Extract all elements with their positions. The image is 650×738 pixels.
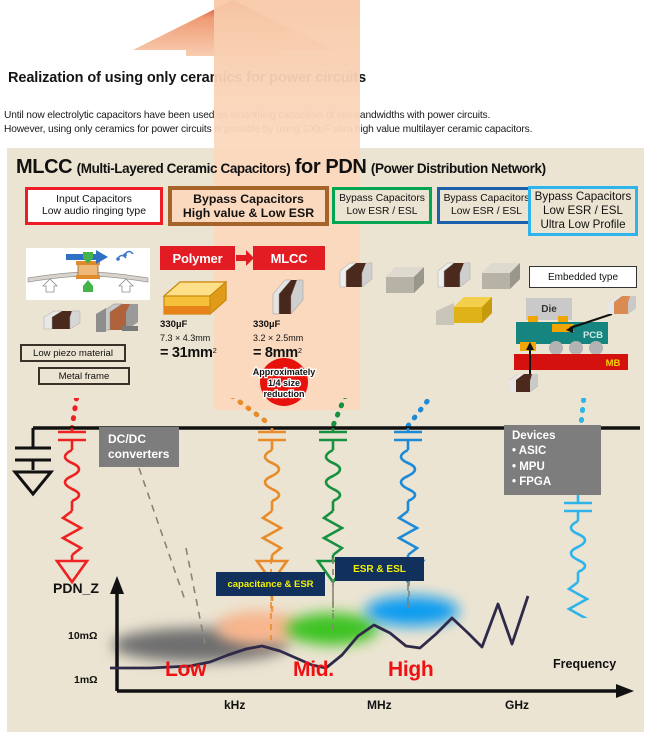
mlcc-capacitance: 330µF	[253, 319, 280, 330]
mlcc-area-exp: 2	[298, 346, 302, 355]
burst-line-1: Approximately	[253, 367, 316, 377]
mlcc-chip-icon-left	[38, 305, 84, 335]
y-tick-1mohm: 1mΩ	[74, 674, 98, 686]
dcdc-line-2: converters	[108, 447, 179, 462]
mb-label: MB	[606, 358, 621, 369]
devices-title: Devices	[512, 429, 601, 444]
band-label-high: High	[388, 658, 433, 682]
devices-box: Devices • ASIC • MPU • FPGA	[504, 425, 601, 495]
category-box-bypass-high-value[interactable]: Bypass Capacitors High value & Low ESR	[168, 186, 329, 226]
band-label-mid: Mid.	[293, 658, 334, 682]
polymer-area-exp: 2	[213, 346, 217, 355]
region-low-esl-mlcc	[365, 596, 459, 626]
dcdc-converters-box: DC/DC converters	[99, 427, 179, 467]
dcdc-line-1: DC/DC	[108, 432, 179, 447]
panel-title-mlcc-expansion: (Multi-Layered Ceramic Capacitors)	[77, 161, 291, 176]
x-axis-title: Frequency	[553, 657, 616, 671]
pcb-vibration-illustration	[26, 248, 150, 300]
polymer-tag: Polymer	[160, 246, 235, 270]
panel-title: MLCC (Multi-Layered Ceramic Capacitors) …	[16, 156, 638, 179]
y-tick-10mohm: 10mΩ	[68, 630, 97, 642]
category-box-bypass-blue[interactable]: Bypass Capacitors Low ESR / ESL	[437, 187, 536, 224]
esr-esl-label: ESR & ESL	[335, 557, 424, 581]
devices-item-mpu: • MPU	[512, 460, 601, 475]
x-tick-mhz: MHz	[367, 698, 392, 712]
panel-title-pdn: for PDN	[295, 156, 367, 178]
panel-title-pdn-expansion: (Power Distribution Network)	[371, 161, 546, 176]
embedded-type-illustration: Die PCB MB	[500, 288, 645, 398]
chip-capacitor-icons-group	[336, 255, 526, 347]
right-arrow-icon	[236, 250, 254, 266]
y-axis-arrow	[110, 576, 124, 594]
low-piezo-material-label: Low piezo material	[20, 344, 126, 362]
highlight-column-top	[214, 0, 360, 148]
category-line-1: Bypass Capacitors	[339, 193, 425, 205]
devices-item-fpga: • FPGA	[512, 475, 601, 490]
devices-item-asic: • ASIC	[512, 444, 601, 459]
category-box-bypass-ultra-low-profile[interactable]: Bypass Capacitors Low ESR / ESL Ultra Lo…	[528, 186, 638, 236]
category-line-1: Bypass Capacitors	[193, 192, 304, 207]
category-line-1: Input Capacitors	[56, 194, 132, 206]
capacitance-esr-label: capacitance & ESR	[216, 572, 325, 596]
pdn-impedance-chart	[0, 548, 650, 738]
polymer-dimensions: 7.3 × 4.3mm	[160, 332, 217, 344]
x-tick-khz: kHz	[224, 698, 245, 712]
category-line-2: Low ESR / ESL	[347, 206, 418, 218]
polymer-spec: 330µF 7.3 × 4.3mm = 31mm2	[160, 318, 217, 364]
category-line-3: Ultra Low Profile	[540, 218, 625, 232]
category-line-2: Low audio ringing type	[42, 206, 146, 218]
pcb-label: PCB	[583, 330, 603, 341]
burst-line-2: 1/4 size	[268, 378, 300, 388]
y-axis-title: PDN_Z	[53, 580, 99, 596]
band-label-low: Low	[165, 658, 206, 682]
category-box-bypass-green[interactable]: Bypass Capacitors Low ESR / ESL	[332, 187, 432, 224]
x-tick-ghz: GHz	[505, 698, 529, 712]
x-axis-arrow	[616, 684, 634, 698]
mlcc-tag: MLCC	[253, 246, 325, 270]
mlcc-dimensions: 3.2 × 2.5mm	[253, 332, 303, 344]
category-line-2: Low ESR / ESL	[543, 204, 623, 218]
polymer-capacitance: 330µF	[160, 319, 187, 330]
category-line-1: Bypass Capacitors	[444, 193, 530, 205]
metal-frame-label: Metal frame	[38, 367, 130, 385]
region-low-esr-mlcc	[286, 613, 378, 645]
category-box-input-capacitors[interactable]: Input Capacitors Low audio ringing type	[25, 187, 163, 225]
embedded-type-label: Embedded type	[529, 266, 637, 288]
metal-frame-capacitor-icon	[92, 300, 144, 338]
polymer-area: = 31mm	[160, 345, 213, 361]
category-line-1: Bypass Capacitors	[535, 190, 632, 204]
panel-title-mlcc: MLCC	[16, 156, 72, 178]
die-label: Die	[541, 304, 557, 315]
category-line-2: Low ESR / ESL	[451, 206, 522, 218]
category-line-2: High value & Low ESR	[183, 206, 314, 221]
polymer-capacitor-icon	[160, 278, 230, 318]
mlcc-capacitor-icon	[263, 274, 307, 318]
